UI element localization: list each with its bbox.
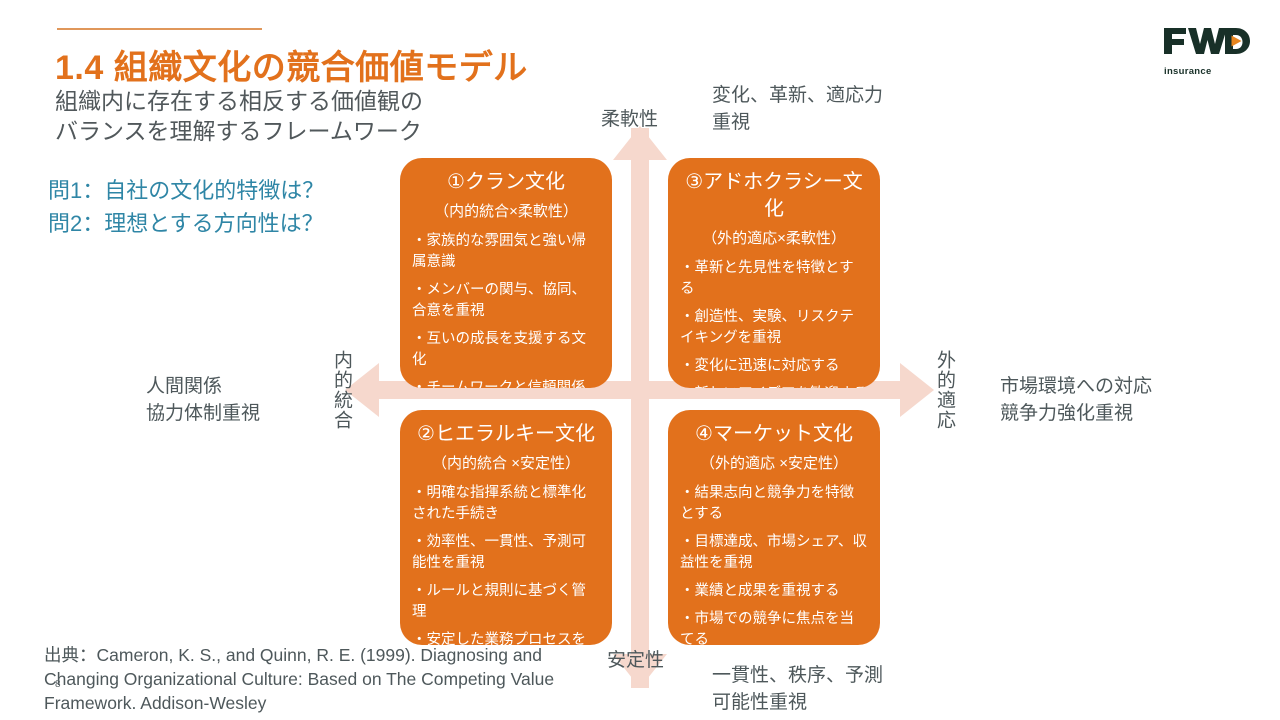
title-rule-divider	[57, 28, 262, 30]
fwd-logo: insurance	[1162, 26, 1258, 79]
list-item: ・新しいアイデアを歓迎する文化	[680, 384, 868, 388]
quadrant-subtitle: （内的統合 ×安定性）	[412, 452, 600, 476]
quadrant-title: ④マーケット文化	[680, 421, 868, 448]
axis-label-flexibility: 柔軟性	[601, 104, 658, 131]
axis-label-internal-integration: 内的統合	[330, 350, 352, 430]
axis-label-external-adaptation: 外的適応	[933, 350, 955, 430]
list-item: ・互いの成長を支援する文化	[412, 329, 600, 371]
quadrant-bullet-list: ・明確な指揮系統と標準化された手続き ・効率性、一貫性、予測可能性を重視 ・ルー…	[412, 483, 600, 645]
page-subtitle: 組織内に存在する相反する価値観の バランスを理解するフレームワーク	[55, 86, 423, 146]
list-item: ・明確な指揮系統と標準化された手続き	[412, 483, 600, 525]
fwd-wordmark-icon	[1162, 26, 1258, 61]
axis-description-left-line-2: 協力体制重視	[146, 400, 260, 427]
list-item: ・変化に迅速に対応する	[680, 356, 868, 377]
axis-description-bottom: 一貫性、秩序、予測 可能性重視	[712, 662, 883, 716]
quadrant-subtitle: （外的適応 ×安定性）	[680, 452, 868, 476]
list-item: ・革新と先見性を特徴とする	[680, 258, 868, 300]
quadrant-bullet-list: ・家族的な雰囲気と強い帰属意識 ・メンバーの関与、協同、合意を重視 ・互いの成長…	[412, 231, 600, 388]
list-item: ・市場での競争に焦点を当てる	[680, 609, 868, 645]
axis-description-right-line-2: 競争力強化重視	[1000, 400, 1152, 427]
vertical-axis-bar	[631, 128, 649, 688]
page-subtitle-line-1: 組織内に存在する相反する価値観の	[55, 86, 423, 116]
quadrant-title: ②ヒエラルキー文化	[412, 421, 600, 448]
quadrant-title: ③アドホクラシー文化	[680, 169, 868, 223]
list-item: ・結果志向と競争力を特徴とする	[680, 483, 868, 525]
quadrant-card-adhocracy[interactable]: ③アドホクラシー文化 （外的適応×柔軟性） ・革新と先見性を特徴とする ・創造性…	[668, 158, 880, 388]
list-item: ・チームワークと信頼関係を大切にする	[412, 378, 600, 388]
quadrant-subtitle: （外的適応×柔軟性）	[680, 227, 868, 251]
axis-description-left-line-1: 人間関係	[146, 373, 260, 400]
list-item: ・目標達成、市場シェア、収益性を重視	[680, 532, 868, 574]
fwd-logo-tagline: insurance	[1164, 66, 1212, 77]
page-subtitle-line-2: バランスを理解するフレームワーク	[55, 116, 423, 146]
axis-description-top: 変化、革新、適応力 重視	[712, 82, 883, 136]
axis-arrow-right-icon	[900, 363, 934, 417]
quadrant-card-hierarchy[interactable]: ②ヒエラルキー文化 （内的統合 ×安定性） ・明確な指揮系統と標準化された手続き…	[400, 410, 612, 645]
axis-label-stability: 安定性	[607, 645, 664, 672]
source-citation: 出典：Cameron, K. S., and Quinn, R. E. (199…	[44, 643, 614, 715]
list-item: ・創造性、実験、リスクテイキングを重視	[680, 307, 868, 349]
quadrant-subtitle: （内的統合×柔軟性）	[412, 200, 600, 224]
quadrant-card-clan[interactable]: ①クラン文化 （内的統合×柔軟性） ・家族的な雰囲気と強い帰属意識 ・メンバーの…	[400, 158, 612, 388]
quadrant-bullet-list: ・結果志向と競争力を特徴とする ・目標達成、市場シェア、収益性を重視 ・業績と成…	[680, 483, 868, 645]
list-item: ・ルールと規則に基づく管理	[412, 581, 600, 623]
axis-arrow-up-icon	[613, 126, 667, 160]
list-item: ・効率性、一貫性、予測可能性を重視	[412, 532, 600, 574]
quadrant-title: ①クラン文化	[412, 169, 600, 196]
axis-description-top-line-2: 重視	[712, 109, 883, 136]
question-2: 問2：理想とする方向性は？	[48, 207, 324, 240]
list-item: ・メンバーの関与、協同、合意を重視	[412, 280, 600, 322]
axis-description-left: 人間関係 協力体制重視	[146, 373, 260, 427]
list-item: ・業績と成果を重視する	[680, 581, 868, 602]
axis-description-right: 市場環境への対応 競争力強化重視	[1000, 373, 1152, 427]
axis-description-right-line-1: 市場環境への対応	[1000, 373, 1152, 400]
quadrant-card-market[interactable]: ④マーケット文化 （外的適応 ×安定性） ・結果志向と競争力を特徴とする ・目標…	[668, 410, 880, 645]
axis-description-top-line-1: 変化、革新、適応力	[712, 82, 883, 109]
page-title: 1.4 組織文化の競合価値モデル	[55, 40, 528, 89]
page-number: 8	[55, 679, 61, 690]
question-prompts: 問1：自社の文化的特徴は？ 問2：理想とする方向性は？	[48, 174, 324, 240]
quadrant-bullet-list: ・革新と先見性を特徴とする ・創造性、実験、リスクテイキングを重視 ・変化に迅速…	[680, 258, 868, 388]
question-1: 問1：自社の文化的特徴は？	[48, 174, 324, 207]
list-item: ・家族的な雰囲気と強い帰属意識	[412, 231, 600, 273]
axis-description-bottom-line-1: 一貫性、秩序、予測	[712, 662, 883, 689]
slide-canvas: 1.4 組織文化の競合価値モデル 組織内に存在する相反する価値観の バランスを理…	[0, 0, 1280, 720]
axis-description-bottom-line-2: 可能性重視	[712, 689, 883, 716]
